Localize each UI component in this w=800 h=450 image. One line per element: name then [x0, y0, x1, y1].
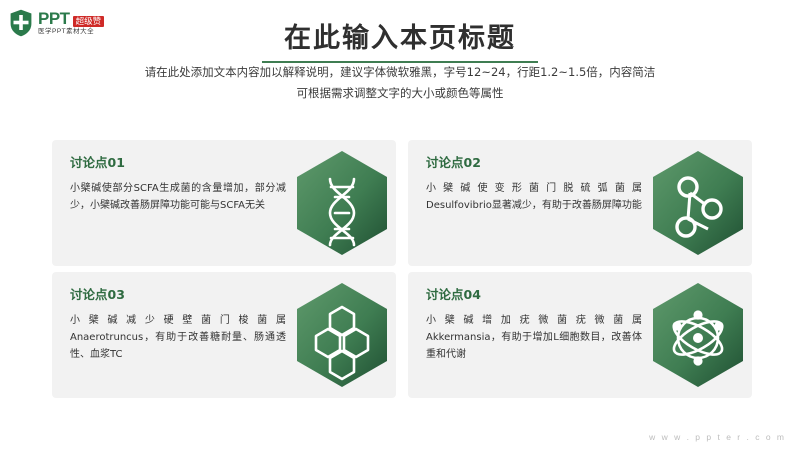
card-grid: 讨论点01 小檗碱使部分SCFA生成菌的含量增加，部分减少，小檗碱改善肠屏障功能…: [52, 140, 752, 405]
card-text: 小 檗 碱 减 少 硬 壁 菌 门 梭 菌 属 Anaerotruncus，有助…: [70, 312, 286, 363]
watermark: w w w . p p t e r . c o m: [649, 432, 786, 442]
discussion-card-4[interactable]: 讨论点04 小 檗 碱 增 加 疣 微 菌 疣 微 菌 属 Akkermansi…: [408, 272, 752, 398]
benzene-rings-icon: [294, 281, 390, 389]
card-text: 小檗碱使部分SCFA生成菌的含量增加，部分减少，小檗碱改善肠屏障功能可能与SCF…: [70, 180, 286, 214]
discussion-card-2[interactable]: 讨论点02 小 檗 碱 使 变 形 菌 门 脱 硫 弧 菌 属 Desulfov…: [408, 140, 752, 266]
molecule-icon: [650, 149, 746, 257]
slide: PPT 超级赞 医学PPT素材大全 在此输入本页标题 请在此处添加文本内容加以解…: [0, 0, 800, 450]
card-heading: 讨论点03: [70, 284, 286, 303]
discussion-card-3[interactable]: 讨论点03 小 檗 碱 减 少 硬 壁 菌 门 梭 菌 属 Anaerotrun…: [52, 272, 396, 398]
page-subtitle: 请在此处添加文本内容加以解释说明，建议字体微软雅黑，字号12~24，行距1.2~…: [0, 62, 800, 104]
page-title: 在此输入本页标题: [0, 16, 800, 55]
card-heading: 讨论点01: [70, 152, 286, 171]
dna-icon: [294, 149, 390, 257]
card-heading: 讨论点02: [426, 152, 642, 171]
subtitle-line-2: 可根据需求调整文字的大小或颜色等属性: [0, 83, 800, 104]
atom-icon: [650, 281, 746, 389]
discussion-card-1[interactable]: 讨论点01 小檗碱使部分SCFA生成菌的含量增加，部分减少，小檗碱改善肠屏障功能…: [52, 140, 396, 266]
card-text: 小 檗 碱 增 加 疣 微 菌 疣 微 菌 属 Akkermansia，有助于增…: [426, 312, 642, 363]
card-text: 小 檗 碱 使 变 形 菌 门 脱 硫 弧 菌 属 Desulfovibrio显…: [426, 180, 642, 214]
card-heading: 讨论点04: [426, 284, 642, 303]
page-title-block: 在此输入本页标题: [0, 16, 800, 63]
subtitle-line-1: 请在此处添加文本内容加以解释说明，建议字体微软雅黑，字号12~24，行距1.2~…: [0, 62, 800, 83]
